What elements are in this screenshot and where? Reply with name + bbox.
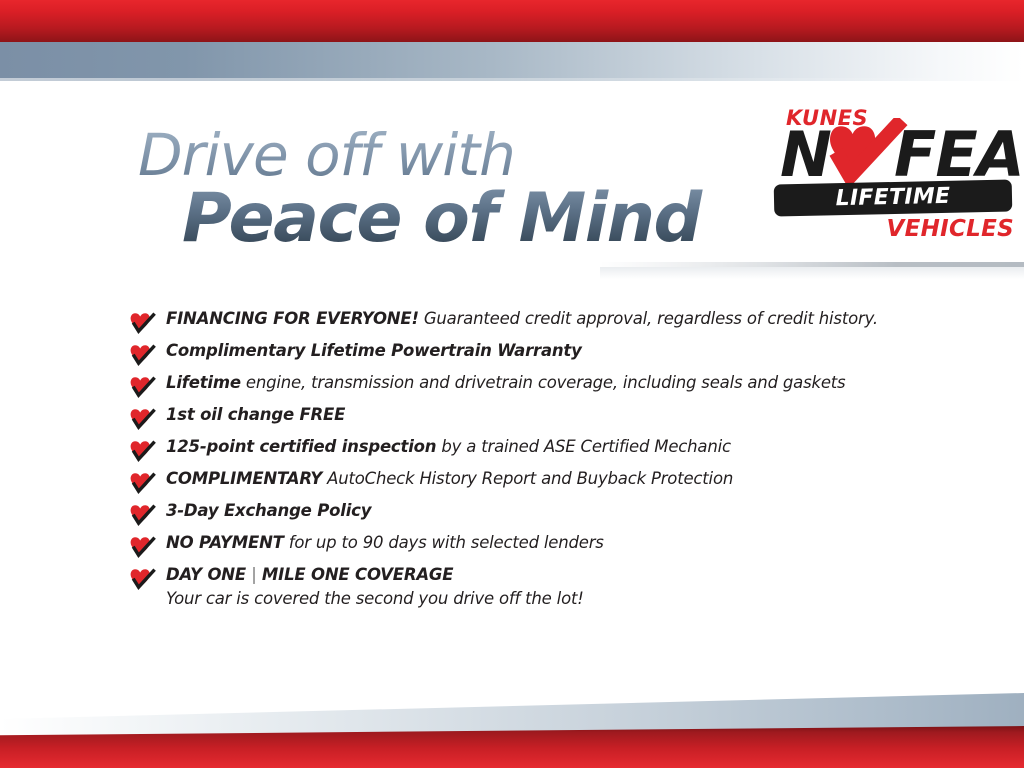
list-item-bold: 3-Day Exchange Policy: [166, 501, 371, 520]
list-item-text: 125-point certified inspection by a trai…: [166, 436, 930, 458]
list-item-separator: |: [251, 565, 257, 584]
list-item: NO PAYMENT for up to 90 days with select…: [130, 532, 930, 564]
list-item: FINANCING FOR EVERYONE! Guaranteed credi…: [130, 308, 930, 340]
list-item: 3-Day Exchange Policy: [130, 500, 930, 532]
list-item-rest: for up to 90 days with selected lenders: [284, 533, 604, 552]
heart-check-icon: [130, 568, 156, 590]
list-item: DAY ONE | MILE ONE COVERAGE Your car is …: [130, 564, 930, 618]
promo-page: Drive off with Peace of Mind KUNES N FEA…: [0, 0, 1024, 768]
logo-word-vehicles: VEHICLES: [886, 218, 1014, 241]
benefits-list: FINANCING FOR EVERYONE! Guaranteed credi…: [130, 308, 930, 618]
list-item-text: NO PAYMENT for up to 90 days with select…: [166, 532, 930, 554]
logo-lifetime-certified-banner: LIFETIME CERTIFIED: [774, 180, 1013, 217]
headline-line-2: Peace of Mind: [182, 182, 738, 256]
list-item-text: 1st oil change FREE: [166, 404, 930, 426]
list-item-bold: NO PAYMENT: [166, 533, 284, 552]
list-item: COMPLIMENTARY AutoCheck History Report a…: [130, 468, 930, 500]
list-item-rest: engine, transmission and drivetrain cove…: [241, 373, 846, 392]
list-item-bold: COMPLIMENTARY: [166, 469, 322, 488]
heart-check-icon: [130, 344, 156, 366]
list-item-text: Complimentary Lifetime Powertrain Warran…: [166, 340, 930, 362]
heart-check-icon: [130, 472, 156, 494]
list-item-rest: Guaranteed credit approval, regardless o…: [419, 309, 878, 328]
headline-divider: [600, 262, 1024, 267]
list-item-bold-b: MILE ONE COVERAGE: [262, 565, 453, 584]
list-item-subtext: Your car is covered the second you drive…: [166, 588, 930, 610]
heart-check-icon: [130, 376, 156, 398]
list-item-bold-a: DAY ONE: [166, 565, 246, 584]
kunes-no-fear-logo: KUNES N FEAR LIFETIME CERTIFIED VEHICLES: [772, 108, 1018, 248]
list-item-bold: Lifetime: [166, 373, 241, 392]
list-item-bold: Complimentary Lifetime Powertrain Warran…: [166, 341, 582, 360]
list-item: Complimentary Lifetime Powertrain Warran…: [130, 340, 930, 372]
top-red-band: [0, 0, 1024, 42]
list-item-bold: 1st oil change FREE: [166, 405, 345, 424]
list-item-text: 3-Day Exchange Policy: [166, 500, 930, 522]
list-item-text: COMPLIMENTARY AutoCheck History Report a…: [166, 468, 930, 490]
list-item-bold: FINANCING FOR EVERYONE!: [166, 309, 419, 328]
heart-check-icon: [130, 504, 156, 526]
headline-line-1: Drive off with: [138, 124, 738, 186]
list-item: Lifetime engine, transmission and drivet…: [130, 372, 930, 404]
heart-check-icon: [130, 440, 156, 462]
list-item: 125-point certified inspection by a trai…: [130, 436, 930, 468]
logo-no-fear-lockup: N FEAR: [776, 124, 1018, 186]
headline-block: Drive off with Peace of Mind: [138, 124, 738, 256]
list-item-rest: AutoCheck History Report and Buyback Pro…: [322, 469, 733, 488]
logo-banner-text: LIFETIME CERTIFIED: [774, 180, 1013, 217]
logo-word-fear: FEAR: [894, 124, 1024, 186]
heart-check-icon: [130, 312, 156, 334]
top-gray-band: [0, 42, 1024, 81]
list-item-text: DAY ONE | MILE ONE COVERAGE: [166, 564, 930, 586]
list-item-text: Lifetime engine, transmission and drivet…: [166, 372, 930, 394]
list-item-rest: by a trained ASE Certified Mechanic: [436, 437, 731, 456]
heart-check-icon: [130, 408, 156, 430]
heart-check-icon: [130, 536, 156, 558]
list-item: 1st oil change FREE: [130, 404, 930, 436]
list-item-text: FINANCING FOR EVERYONE! Guaranteed credi…: [166, 308, 930, 330]
list-item-bold: 125-point certified inspection: [166, 437, 436, 456]
